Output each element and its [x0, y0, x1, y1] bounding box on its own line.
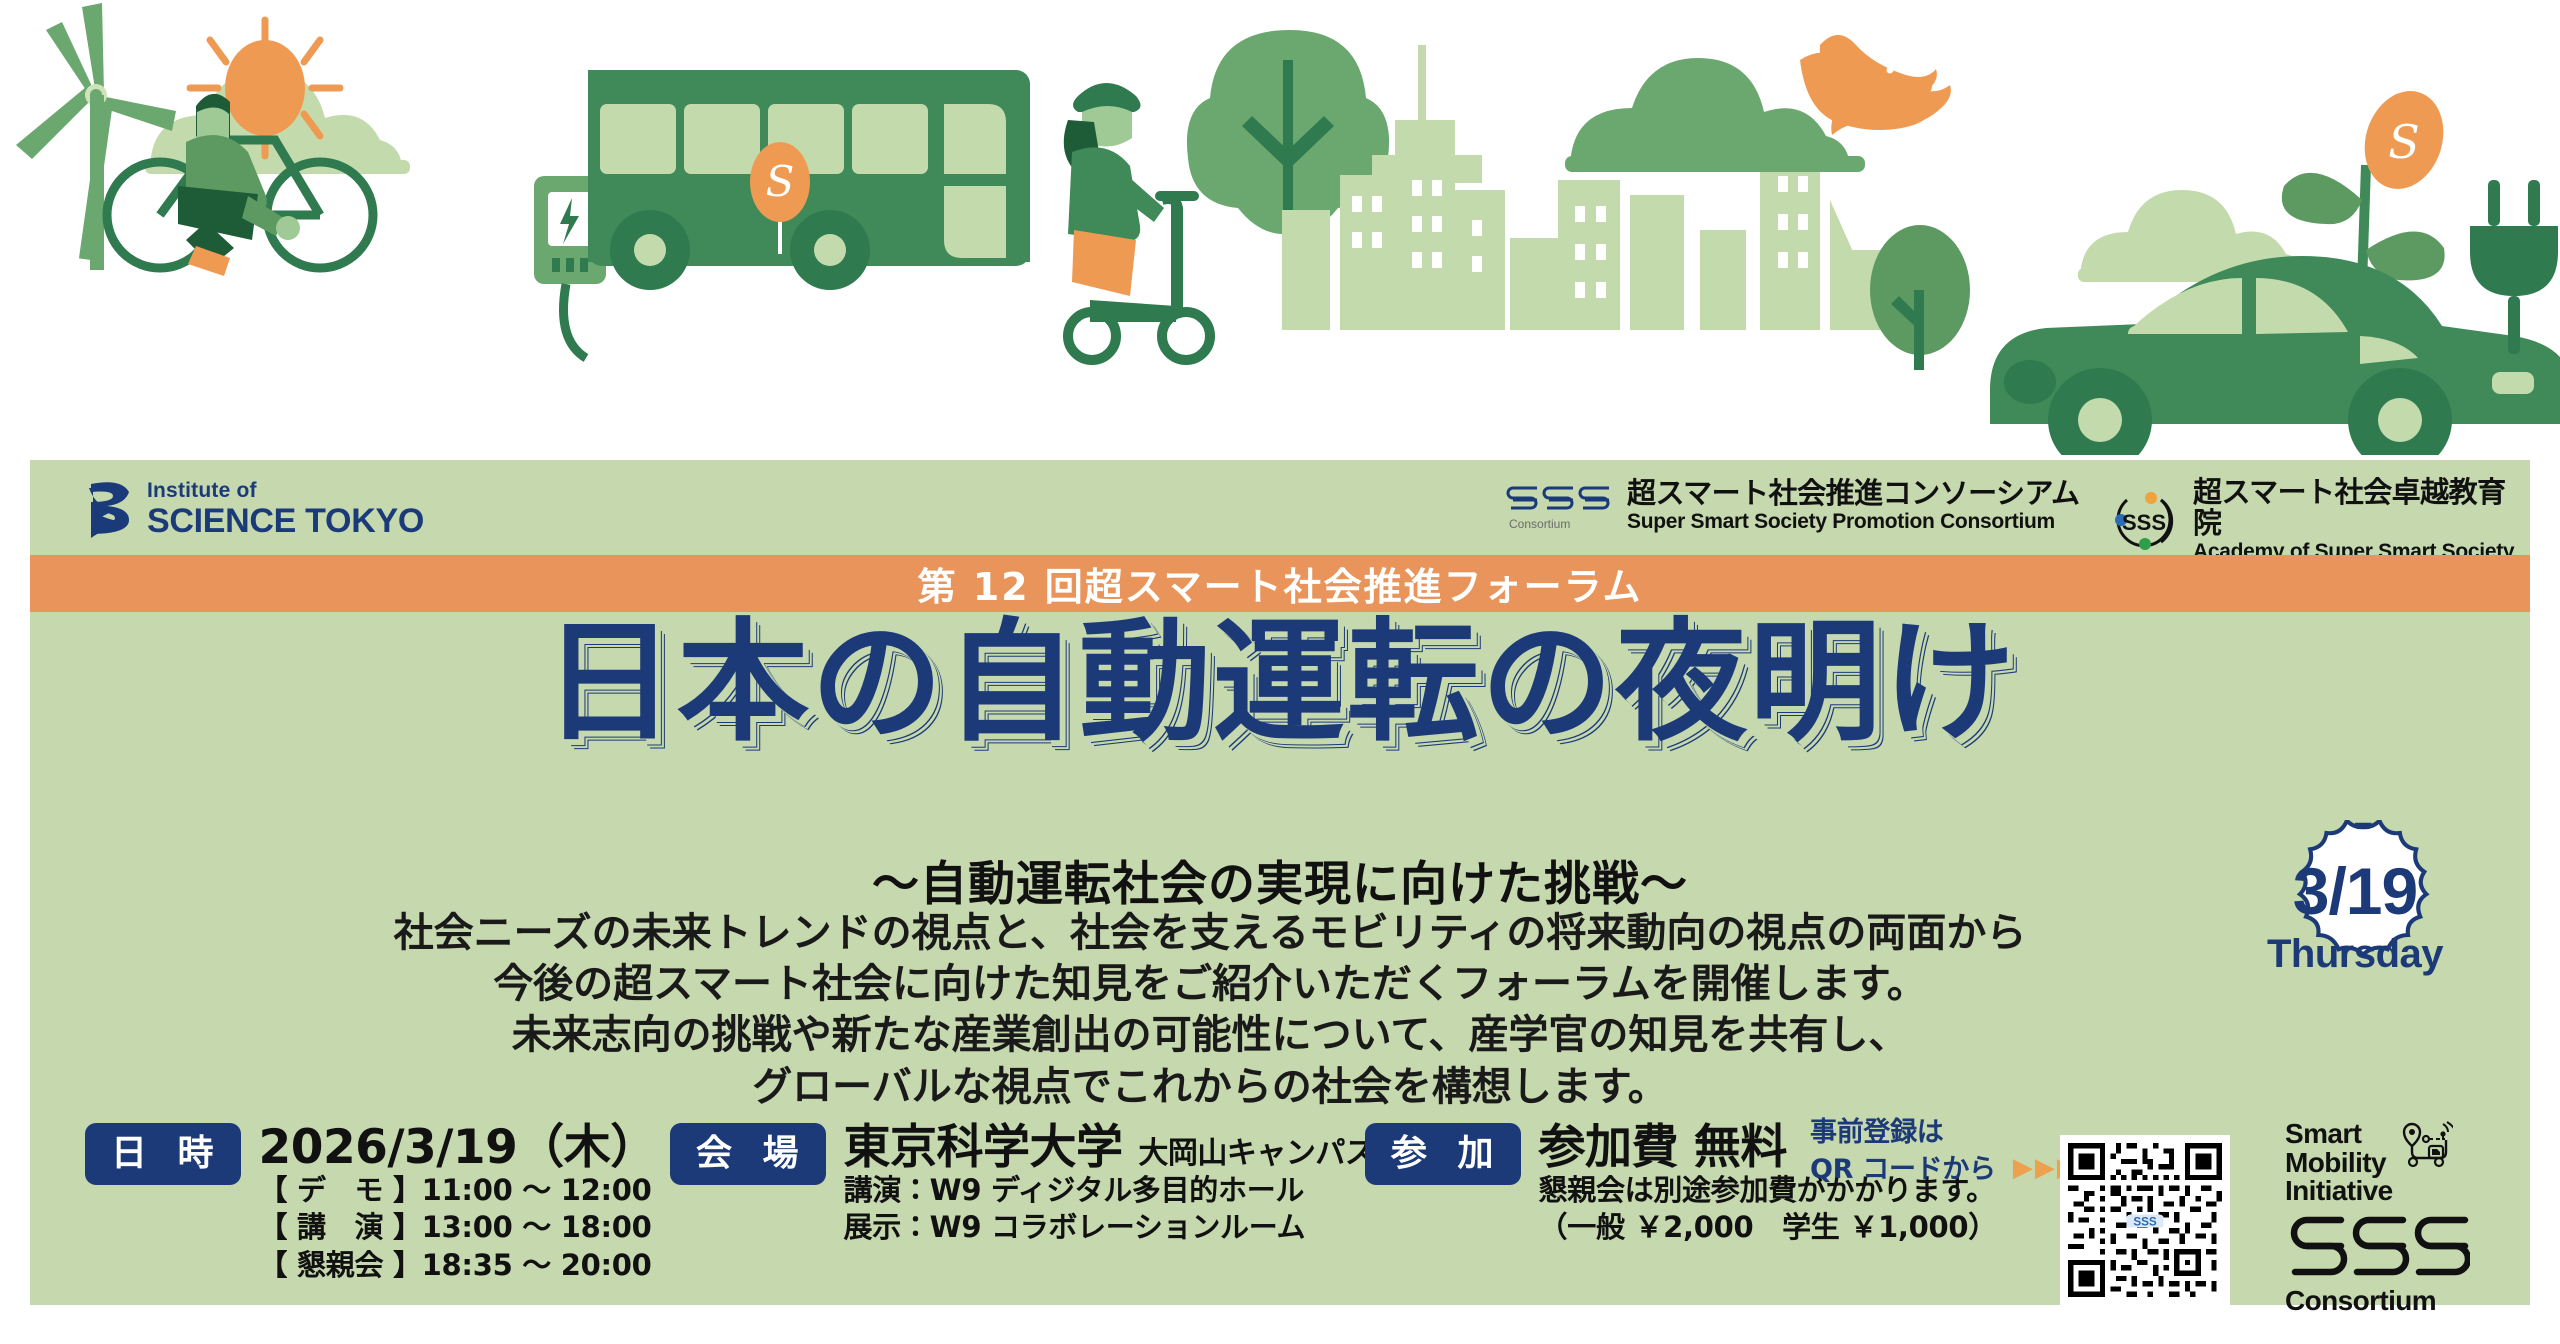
poster-root: S [0, 0, 2560, 1344]
science-tokyo-mark-icon [85, 480, 133, 538]
datetime-headline: 2026/3/19（木） [259, 1123, 657, 1172]
logo-row: Institute of SCIENCE TOKYO Consortium [30, 460, 2530, 555]
smi-line-2: Mobility [2285, 1149, 2393, 1178]
lead-line-2: 今後の超スマート社会に向けた知見をご紹介いただくフォーラムを開催します。 [90, 959, 2330, 1010]
svg-text:SSS: SSS [2133, 1215, 2157, 1228]
institute-label-line1: Institute of [147, 480, 424, 501]
datetime-line-2: 【 講 演 】13:00 〜 18:00 [259, 1209, 657, 1246]
svg-text:Consortium: Consortium [1509, 517, 1570, 531]
title-block: 日本の自動運転の夜明け [30, 612, 2530, 755]
registration-note: 事前登録は QR コードから ▶▶▶ [1810, 1115, 2079, 1189]
fee-line-2: （一般 ￥2,000 学生 ￥1,000） [1539, 1209, 1997, 1246]
institute-label-line2: SCIENCE TOKYO [147, 504, 424, 538]
registration-line-2: QR コードから [1810, 1154, 1996, 1185]
lead-line-1: 社会ニーズの未来トレンドの視点と、社会を支えるモビリティの将来動向の視点の両面か… [90, 908, 2330, 959]
venue-tag: 会 場 [670, 1123, 826, 1185]
page-subtitle: 〜自動運転社会の実現に向けた挑戦〜 [30, 845, 2530, 914]
qr-code-icon: SSS [2068, 1143, 2222, 1297]
lead-line-3: 未来志向の挑戦や新たな産業創出の可能性について、産学官の知見を共有し、 [90, 1010, 2330, 1061]
academy-sss-jp: 超スマート社会卓越教育院 [2193, 478, 2530, 539]
institute-of-science-tokyo-logo: Institute of SCIENCE TOKYO [85, 480, 424, 538]
datetime-block: 日 時 2026/3/19（木） 【 デ モ 】11:00 〜 12:00 【 … [85, 1123, 657, 1284]
venue-line-1: 講演：W9 ディジタル多目的ホール [844, 1172, 1375, 1209]
qr-code[interactable]: SSS [2060, 1135, 2230, 1305]
mobility-network-icon [2399, 1120, 2453, 1178]
lead-line-4: グローバルな視点でこれからの社会を構想します。 [90, 1062, 2330, 1113]
registration-line-1: 事前登録は [1810, 1115, 2079, 1151]
main-panel: Institute of SCIENCE TOKYO Consortium [30, 460, 2530, 1305]
academy-sss-logo: SSS 超スマート社会卓越教育院 Academy of Super Smart … [2105, 478, 2530, 564]
sss-consortium-en: Super Smart Society Promotion Consortium [1627, 511, 2080, 533]
fee-tag: 参 加 [1365, 1123, 1521, 1185]
date-badge: 3/19 Thursday [2220, 820, 2490, 1050]
green-bus-icon: S [588, 70, 1030, 290]
hero-illustration: S [0, 0, 2560, 455]
venue-campus: 大岡山キャンパス [1138, 1136, 1374, 1171]
venue-headline: 東京科学大学 [844, 1120, 1123, 1175]
venue-line-2: 展示：W9 コラボレーションルーム [844, 1209, 1375, 1246]
smi-line-1: Smart [2285, 1120, 2393, 1149]
smi-line-3: Initiative [2285, 1177, 2393, 1206]
sss-consortium-logo: Consortium 超スマート社会推進コンソーシアム Super Smart … [1505, 478, 2080, 534]
smi-consortium-label: Consortium [2285, 1287, 2470, 1315]
forum-banner-text: 第 12 回超スマート社会推進フォーラム [917, 556, 1642, 611]
sss-consortium-jp: 超スマート社会推進コンソーシアム [1627, 479, 2080, 510]
venue-block: 会 場 東京科学大学 大岡山キャンパス 講演：W9 ディジタル多目的ホール 展示… [670, 1123, 1374, 1247]
datetime-line-1: 【 デ モ 】11:00 〜 12:00 [259, 1172, 657, 1209]
sss-consortium-big-mark-icon [2285, 1210, 2470, 1280]
date-badge-number: 3/19 [2220, 858, 2490, 924]
sun-disc [225, 40, 305, 136]
page-title: 日本の自動運転の夜明け [543, 612, 2017, 755]
smart-mobility-initiative-logo: Smart Mobility Initiative [2285, 1120, 2470, 1300]
date-badge-weekday: Thursday [2220, 934, 2490, 974]
svg-text:S: S [766, 157, 795, 206]
svg-text:SSS: SSS [2122, 510, 2166, 535]
datetime-line-3: 【 懇親会 】18:35 〜 20:00 [259, 1247, 657, 1284]
academy-sss-mark-icon: SSS [2105, 490, 2183, 552]
sss-consortium-mark-icon: Consortium [1505, 478, 1613, 534]
forum-banner: 第 12 回超スマート社会推進フォーラム [30, 555, 2530, 612]
info-row: 日 時 2026/3/19（木） 【 デ モ 】11:00 〜 12:00 【 … [30, 1115, 2530, 1305]
datetime-tag: 日 時 [85, 1123, 241, 1185]
lead-paragraph: 社会ニーズの未来トレンドの視点と、社会を支えるモビリティの将来動向の視点の両面か… [90, 908, 2330, 1113]
svg-text:S: S [2388, 115, 2420, 169]
